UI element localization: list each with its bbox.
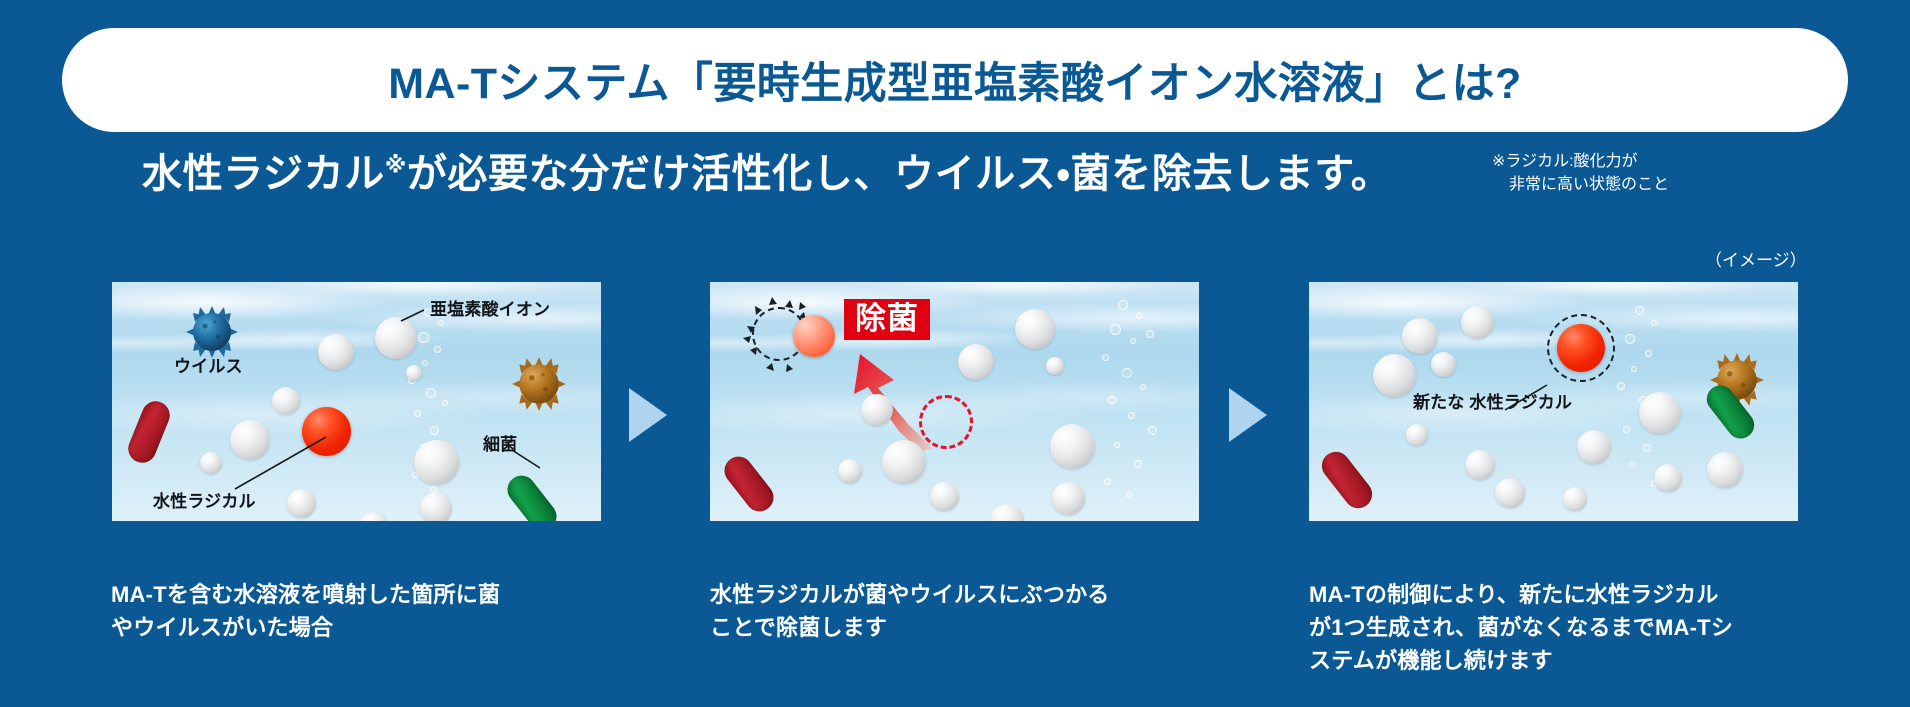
footnote-line-1: ※ラジカル:酸化力が [1492, 153, 1638, 170]
subtitle-asterisk: ※ [385, 153, 407, 178]
subtitle-part1: 水性ラジカル [142, 152, 385, 196]
chlorite-ion [861, 394, 893, 426]
caption-line: やウイルスがいた場合 [111, 611, 631, 644]
footnote-line-2: 非常に高い状態のこと [1492, 173, 1669, 196]
step-arrow-1-icon [629, 388, 667, 442]
panel-3: 新たな 水性ラジカル [1309, 282, 1798, 521]
caption-line: MA-Tの制御により、新たに水性ラジカル [1309, 578, 1849, 611]
caption-line: が1つ生成され、菌がなくなるまでMA-Tシ [1309, 611, 1849, 644]
caption-line: 水性ラジカルが菌やウイルスにぶつかる [710, 578, 1230, 611]
caption-line: ことで除菌します [710, 611, 1230, 644]
step-arrow-2-icon [1229, 388, 1267, 442]
panel-2-caption: 水性ラジカルが菌やウイルスにぶつかる ことで除菌します [710, 578, 1230, 644]
chlorite-ion [1052, 482, 1085, 515]
label-new-radical-line2: 水性ラジカル [1469, 393, 1572, 412]
caption-line: ステムが機能し続けます [1309, 644, 1849, 677]
status-badge-jokin: 除菌 [844, 299, 930, 340]
chlorite-ion [958, 344, 994, 380]
bacteria-rod-red [719, 451, 779, 517]
image-disclaimer: （イメージ） [1705, 246, 1807, 271]
panel-row: 亜塩素酸イオン ウイルス 細菌 水性ラジカル [0, 282, 1910, 522]
label-radical: 水性ラジカル [153, 491, 256, 512]
chlorite-ion [882, 440, 926, 484]
page-title: MA-Tシステム「要時生成型亜塩素酸イオン水溶液」とは? [388, 49, 1521, 111]
chlorite-ion [1050, 424, 1095, 469]
panel-3-caption: MA-Tの制御により、新たに水性ラジカル が1つ生成され、菌がなくなるまでMA-… [1309, 578, 1849, 677]
subtitle-row: 水性ラジカル※が必要な分だけ活性化し、ウイルス・菌を除去します。 ※ラジカル:酸… [0, 146, 1910, 206]
panel-1: 亜塩素酸イオン ウイルス 細菌 水性ラジカル [112, 282, 601, 521]
chlorite-ion [990, 504, 1024, 521]
subtitle: 水性ラジカル※が必要な分だけ活性化し、ウイルス・菌を除去します。 [142, 146, 1391, 202]
caption-line: MA-Tを含む水溶液を噴射した箇所に菌 [111, 578, 631, 611]
panel-1-caption: MA-Tを含む水溶液を噴射した箇所に菌 やウイルスがいた場合 [111, 578, 631, 644]
label-bacteria: 細菌 [483, 434, 517, 455]
subtitle-part2: が必要な分だけ活性化し、ウイルス・菌を除去します。 [407, 152, 1392, 196]
bubble-cluster [1088, 296, 1168, 506]
vacated-radical-outline [919, 395, 973, 449]
label-virus: ウイルス [174, 356, 243, 377]
label-chlorite-ion: 亜塩素酸イオン [430, 299, 550, 320]
label-new-radical: 新たな 水性ラジカル [1413, 392, 1572, 413]
footnote: ※ラジカル:酸化力が 非常に高い状態のこと [1492, 150, 1669, 196]
chlorite-ion [1015, 309, 1055, 349]
label-new-radical-line1: 新たな [1413, 393, 1465, 412]
panel-2: 除菌 [710, 282, 1199, 521]
chlorite-ion [930, 482, 959, 511]
chlorite-ion [838, 459, 862, 483]
chlorite-ion [1046, 357, 1064, 375]
title-pill: MA-Tシステム「要時生成型亜塩素酸イオン水溶液」とは? [62, 28, 1848, 132]
